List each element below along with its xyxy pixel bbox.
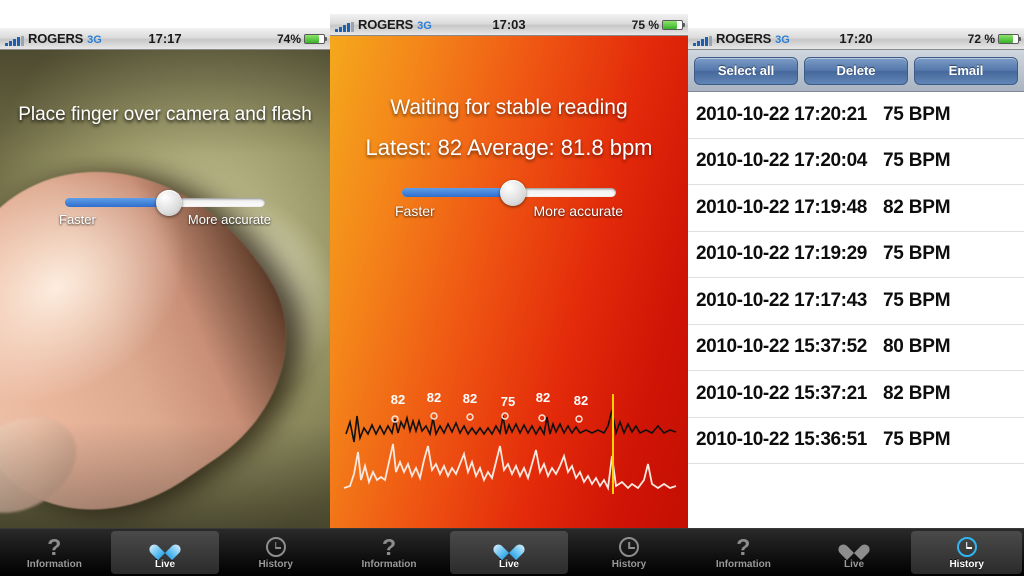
tab-information-label: Information xyxy=(716,559,771,570)
status-left-group: ROGERS 3G xyxy=(5,31,102,46)
tab-history-label: History xyxy=(258,559,292,570)
live-status-text: Waiting for stable reading xyxy=(330,96,688,120)
waveform-svg: 82 82 82 75 82 82 xyxy=(336,376,682,506)
tab-live[interactable]: Live xyxy=(799,529,910,576)
row-bpm: 75 BPM xyxy=(883,429,950,451)
history-toolbar: Select all Delete Email xyxy=(688,50,1024,92)
beat-label-5: 82 xyxy=(574,393,588,408)
row-timestamp: 2010-10-22 17:19:48 xyxy=(696,197,867,219)
status-right-group: 72 % xyxy=(968,32,1019,46)
table-row[interactable]: 2010-10-22 17:19:48 82 BPM xyxy=(688,185,1024,232)
row-bpm: 82 BPM xyxy=(883,197,950,219)
slider-label-left: Faster xyxy=(59,212,96,227)
status-left-group: ROGERS 3G xyxy=(693,31,790,46)
row-bpm: 75 BPM xyxy=(883,104,950,126)
tab-information-label: Information xyxy=(362,559,417,570)
slider-knob[interactable] xyxy=(500,180,526,206)
accuracy-slider[interactable] xyxy=(402,188,616,197)
row-timestamp: 2010-10-22 15:36:51 xyxy=(696,429,867,451)
heart-icon xyxy=(499,536,519,558)
row-bpm: 75 BPM xyxy=(883,290,950,312)
waveform-white-trace xyxy=(344,444,676,488)
row-timestamp: 2010-10-22 15:37:21 xyxy=(696,383,867,405)
beat-labels: 82 82 82 75 82 82 xyxy=(391,390,588,409)
accuracy-slider-group[interactable]: Faster More accurate xyxy=(330,188,688,219)
phone-panel-history: ROGERS 3G 17:20 72 % Select all Delete E… xyxy=(688,28,1024,576)
tab-information[interactable]: ? Information xyxy=(0,529,109,576)
table-row[interactable]: 2010-10-22 15:37:21 82 BPM xyxy=(688,371,1024,418)
signal-bars-icon xyxy=(335,22,354,32)
table-row[interactable]: 2010-10-22 15:37:52 80 BPM xyxy=(688,325,1024,372)
email-button[interactable]: Email xyxy=(914,57,1018,85)
beat-markers xyxy=(392,413,582,422)
status-bar-live: ROGERS 3G 17:03 75 % xyxy=(330,14,688,36)
network-type-label: 3G xyxy=(417,20,432,32)
question-mark-icon: ? xyxy=(382,536,396,558)
status-right-group: 74% xyxy=(277,32,325,46)
live-view: Waiting for stable reading Latest: 82 Av… xyxy=(330,36,688,528)
slider-label-right: More accurate xyxy=(188,212,271,227)
tab-information-label: Information xyxy=(27,559,82,570)
row-bpm: 80 BPM xyxy=(883,336,950,358)
accuracy-slider-group[interactable]: Faster More accurate xyxy=(0,198,330,227)
waveform-black-trace xyxy=(346,410,676,442)
beat-label-4: 82 xyxy=(536,390,550,405)
question-mark-icon: ? xyxy=(736,536,750,558)
accuracy-slider[interactable] xyxy=(65,198,265,207)
network-type-label: 3G xyxy=(87,34,102,46)
row-timestamp: 2010-10-22 17:19:29 xyxy=(696,243,867,265)
beat-label-2: 82 xyxy=(463,391,477,406)
phone-panel-camera: ROGERS 3G 17:17 74% Place finger over ca… xyxy=(0,28,330,576)
pulse-waveform-chart: 82 82 82 75 82 82 xyxy=(336,376,682,506)
status-right-group: 75 % xyxy=(632,18,683,32)
tab-bar-camera: ? Information Live History xyxy=(0,528,330,576)
slider-knob[interactable] xyxy=(156,190,182,216)
heart-icon xyxy=(844,536,864,558)
tab-live[interactable]: Live xyxy=(450,531,568,574)
instruction-text: Place finger over camera and flash xyxy=(0,104,330,126)
table-row[interactable]: 2010-10-22 15:36:51 75 BPM xyxy=(688,418,1024,465)
table-row[interactable]: 2010-10-22 17:20:04 75 BPM xyxy=(688,139,1024,186)
network-type-label: 3G xyxy=(775,34,790,46)
camera-preview: Place finger over camera and flash Faste… xyxy=(0,50,330,528)
battery-percent-label: 72 % xyxy=(968,32,995,46)
tab-history-label: History xyxy=(949,559,983,570)
signal-bars-icon xyxy=(693,36,712,46)
delete-button[interactable]: Delete xyxy=(804,57,908,85)
tab-history[interactable]: History xyxy=(221,529,330,576)
slider-fill xyxy=(402,188,513,197)
tab-information[interactable]: ? Information xyxy=(688,529,799,576)
status-bar-camera: ROGERS 3G 17:17 74% xyxy=(0,28,330,50)
slider-fill xyxy=(65,198,169,207)
tab-bar-live: ? Information Live History xyxy=(330,528,688,576)
clock-icon xyxy=(266,536,286,558)
row-timestamp: 2010-10-22 15:37:52 xyxy=(696,336,867,358)
tab-information[interactable]: ? Information xyxy=(330,529,448,576)
table-row[interactable]: 2010-10-22 17:20:21 75 BPM xyxy=(688,92,1024,139)
question-mark-icon: ? xyxy=(47,536,61,558)
history-list[interactable]: 2010-10-22 17:20:21 75 BPM 2010-10-22 17… xyxy=(688,92,1024,528)
beat-label-1: 82 xyxy=(427,390,441,405)
select-all-button[interactable]: Select all xyxy=(694,57,798,85)
signal-bars-icon xyxy=(5,36,24,46)
battery-icon xyxy=(998,34,1019,44)
battery-icon xyxy=(304,34,325,44)
tab-history[interactable]: History xyxy=(911,531,1022,574)
row-bpm: 75 BPM xyxy=(883,150,950,172)
carrier-label: ROGERS xyxy=(716,31,771,46)
live-reading-text: Latest: 82 Average: 81.8 bpm xyxy=(330,135,688,161)
status-left-group: ROGERS 3G xyxy=(335,17,432,32)
row-timestamp: 2010-10-22 17:17:43 xyxy=(696,290,867,312)
beat-label-3: 75 xyxy=(501,394,515,409)
tab-bar-history: ? Information Live History xyxy=(688,528,1024,576)
tab-live[interactable]: Live xyxy=(111,531,220,574)
slider-label-left: Faster xyxy=(395,203,435,219)
table-row[interactable]: 2010-10-22 17:17:43 75 BPM xyxy=(688,278,1024,325)
heart-icon xyxy=(155,536,175,558)
battery-percent-label: 75 % xyxy=(632,18,659,32)
table-row[interactable]: 2010-10-22 17:19:29 75 BPM xyxy=(688,232,1024,279)
clock-icon xyxy=(957,536,977,558)
battery-icon xyxy=(662,20,683,30)
battery-percent-label: 74% xyxy=(277,32,301,46)
clock-icon xyxy=(619,536,639,558)
row-bpm: 82 BPM xyxy=(883,383,950,405)
status-bar-history: ROGERS 3G 17:20 72 % xyxy=(688,28,1024,50)
carrier-label: ROGERS xyxy=(358,17,413,32)
phone-panel-live: ROGERS 3G 17:03 75 % Waiting for stable … xyxy=(330,14,688,576)
tab-history[interactable]: History xyxy=(570,529,688,576)
tab-history-label: History xyxy=(612,559,646,570)
row-bpm: 75 BPM xyxy=(883,243,950,265)
slider-label-right: More accurate xyxy=(534,203,623,219)
carrier-label: ROGERS xyxy=(28,31,83,46)
row-timestamp: 2010-10-22 17:20:04 xyxy=(696,150,867,172)
beat-label-0: 82 xyxy=(391,392,405,407)
screenshot-stage: ROGERS 3G 17:17 74% Place finger over ca… xyxy=(0,0,1024,576)
row-timestamp: 2010-10-22 17:20:21 xyxy=(696,104,867,126)
